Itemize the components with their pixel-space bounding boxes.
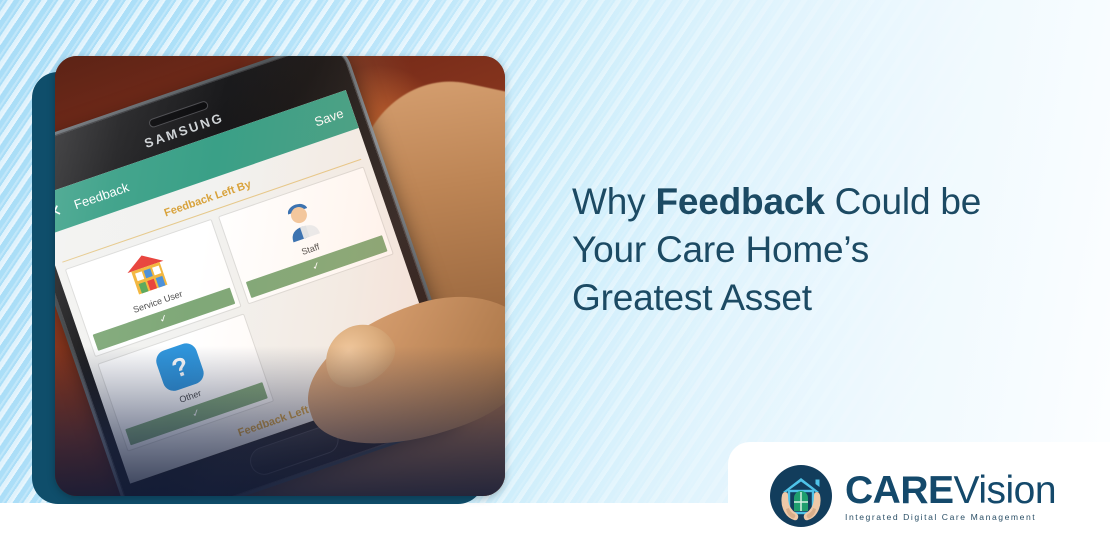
headline-line-3: Greatest Asset: [572, 274, 1072, 322]
staff-person-icon: [274, 193, 327, 246]
close-x-icon[interactable]: ✕: [55, 199, 71, 222]
headline-highlight: Feedback: [655, 178, 824, 226]
headline-line-2: Your Care Home’s: [572, 226, 1072, 274]
logo-panel: CAREVision Integrated Digital Care Manag…: [728, 442, 1110, 550]
headline-text-after: Could be: [825, 181, 982, 222]
logo-name-light: Vision: [954, 469, 1057, 512]
headline-line-1: Why Feedback Could be: [572, 178, 1072, 226]
headline-text-before: Why: [572, 181, 655, 222]
logo-name-bold: CARE: [845, 469, 954, 512]
banner: SAMSUNG ✕ Feedback Save Feedback Left By: [0, 0, 1110, 550]
hero-photo: SAMSUNG ✕ Feedback Save Feedback Left By: [55, 56, 505, 496]
logo-text: CAREVision Integrated Digital Care Manag…: [845, 470, 1056, 522]
logo-wordmark: CAREVision: [845, 472, 1056, 509]
page-title: Why Feedback Could be Your Care Home’s G…: [572, 178, 1072, 322]
care-vision-house-in-hands-icon: [770, 465, 832, 527]
photo-bottom-shadow: [55, 346, 505, 496]
logo-tagline: Integrated Digital Care Management: [845, 512, 1056, 522]
care-home-house-icon: [121, 246, 174, 299]
save-button[interactable]: Save: [312, 105, 345, 129]
